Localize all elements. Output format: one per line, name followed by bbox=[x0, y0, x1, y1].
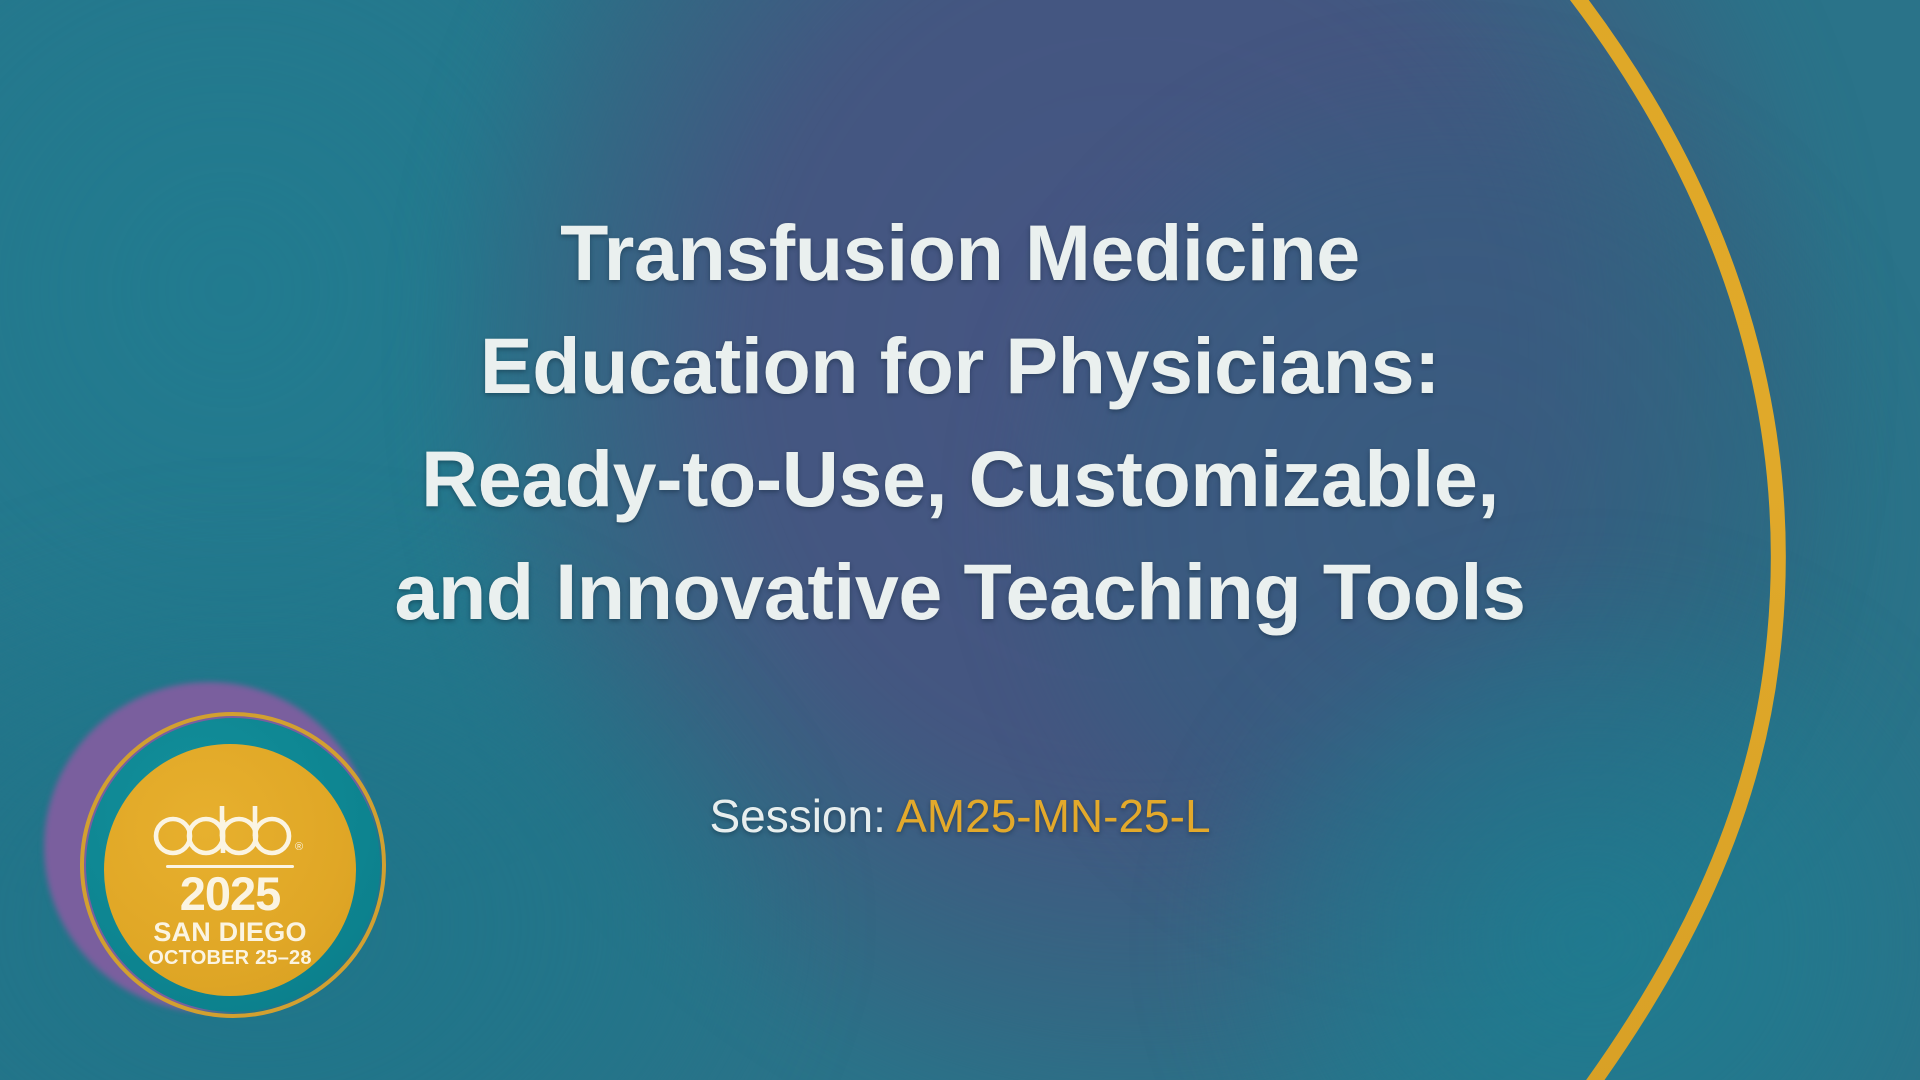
aabb-wordmark-icon: ® bbox=[145, 800, 315, 858]
logo-year: 2025 bbox=[180, 870, 281, 918]
title-line-3: Ready-to-Use, Customizable, bbox=[110, 422, 1810, 535]
logo-gold-disc: ® 2025 SAN DIEGO OCTOBER 25–28 bbox=[104, 744, 356, 996]
title-line-2: Education for Physicians: bbox=[110, 309, 1810, 422]
registered-trademark-icon: ® bbox=[295, 841, 303, 853]
aabb-2025-logo: ® 2025 SAN DIEGO OCTOBER 25–28 bbox=[62, 700, 402, 1040]
title-line-1: Transfusion Medicine bbox=[110, 196, 1810, 309]
logo-city: SAN DIEGO bbox=[153, 918, 306, 947]
title-line-4: and Innovative Teaching Tools bbox=[110, 535, 1810, 648]
logo-dates: OCTOBER 25–28 bbox=[148, 947, 311, 970]
slide-title: Transfusion Medicine Education for Physi… bbox=[0, 196, 1920, 648]
session-code: AM25-MN-25-L bbox=[896, 790, 1210, 842]
presentation-slide: Transfusion Medicine Education for Physi… bbox=[0, 0, 1920, 1080]
session-label: Session: bbox=[709, 790, 885, 842]
